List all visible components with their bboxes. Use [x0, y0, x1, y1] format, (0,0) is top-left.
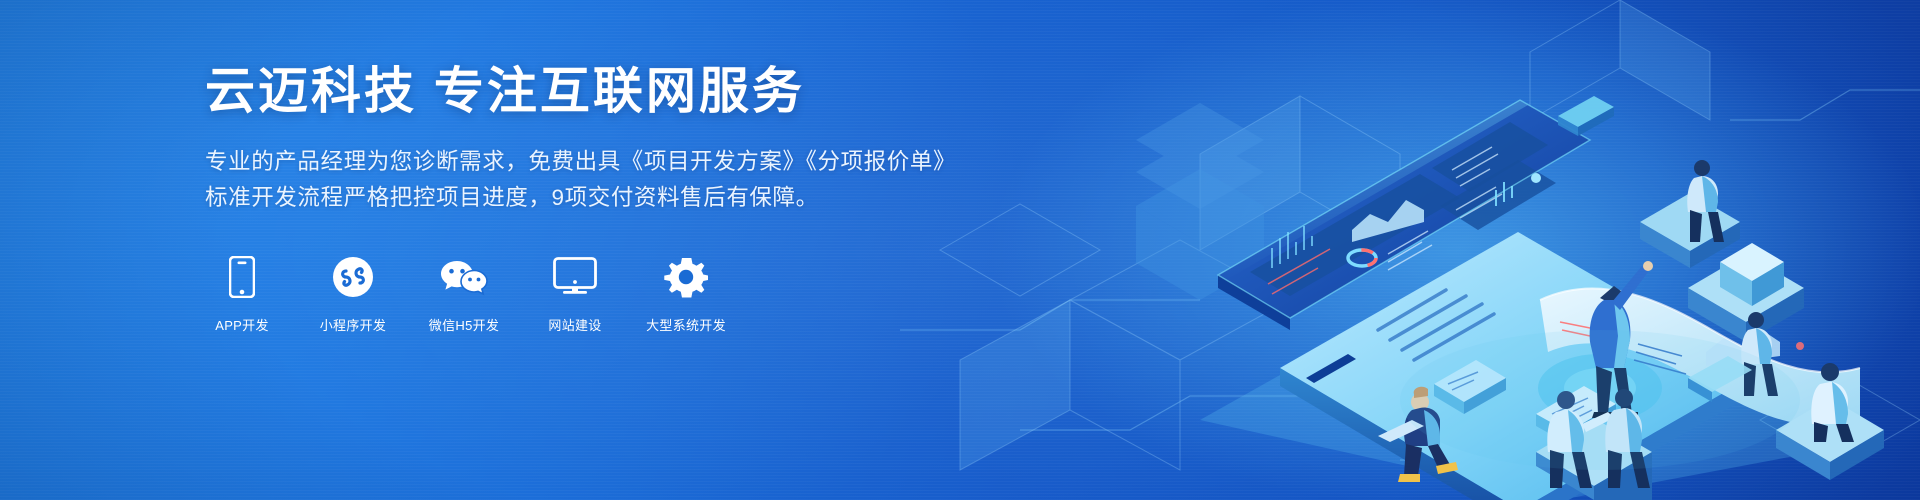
- subtitle-line-1: 专业的产品经理为您诊断需求，免费出具《项目开发方案》《分项报价单》: [205, 144, 945, 180]
- banner-content: 云迈科技 专注互联网服务 专业的产品经理为您诊断需求，免费出具《项目开发方案》《…: [205, 64, 945, 334]
- wechat-icon: [440, 253, 488, 301]
- service-label: 小程序开发: [320, 315, 387, 334]
- isometric-tech-illustration: [900, 0, 1920, 500]
- service-label: 网站建设: [548, 315, 601, 334]
- service-list: APP开发 小程序开发: [205, 253, 945, 334]
- page-title: 云迈科技 专注互联网服务: [205, 64, 945, 118]
- monitor-icon: [553, 253, 597, 301]
- service-label: 大型系统开发: [646, 315, 726, 334]
- service-item-wechat-h5[interactable]: 微信H5开发: [427, 253, 501, 334]
- service-item-mini-program[interactable]: 小程序开发: [316, 253, 390, 334]
- service-label: APP开发: [215, 315, 269, 334]
- banner-subtitle: 专业的产品经理为您诊断需求，免费出具《项目开发方案》《分项报价单》 标准开发流程…: [205, 144, 945, 217]
- hero-banner: 云迈科技 专注互联网服务 专业的产品经理为您诊断需求，免费出具《项目开发方案》《…: [0, 0, 1920, 500]
- service-item-large-system[interactable]: 大型系统开发: [649, 253, 723, 334]
- service-label: 微信H5开发: [429, 315, 499, 334]
- mobile-phone-icon: [229, 253, 255, 301]
- subtitle-line-2: 标准开发流程严格把控项目进度，9项交付资料售后有保障。: [205, 180, 945, 216]
- mini-program-icon: [332, 253, 374, 301]
- service-item-app[interactable]: APP开发: [205, 253, 279, 334]
- gear-icon: [664, 253, 708, 301]
- service-item-website[interactable]: 网站建设: [538, 253, 612, 334]
